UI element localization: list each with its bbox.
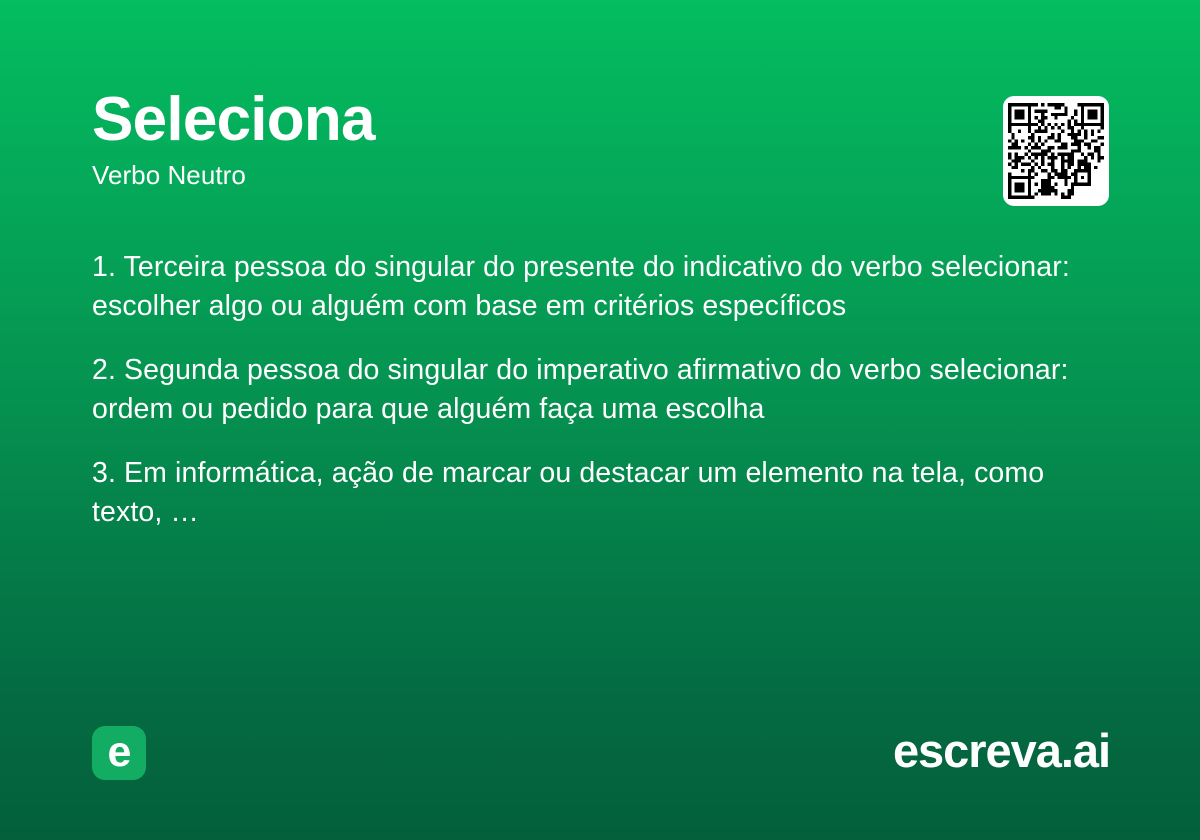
brand-logo-mark: e: [92, 726, 146, 780]
definition-card: Seleciona Verbo Neutro 1. Terceira pesso…: [0, 0, 1200, 840]
brand-wordmark: escreva.ai: [893, 722, 1110, 780]
qr-code-icon: [1008, 102, 1104, 200]
definition-item: 3. Em informática, ação de marcar ou des…: [92, 454, 1107, 532]
qr-code-card[interactable]: [1003, 96, 1109, 206]
definition-item: 1. Terceira pessoa do singular do presen…: [92, 248, 1107, 326]
page-title: Seleciona: [92, 88, 1110, 152]
brand-logo-letter: e: [92, 726, 146, 780]
definition-item: 2. Segunda pessoa do singular do imperat…: [92, 351, 1107, 429]
word-class-subtitle: Verbo Neutro: [92, 160, 1110, 191]
card-header: Seleciona Verbo Neutro: [92, 88, 1110, 192]
definition-list: 1. Terceira pessoa do singular do presen…: [92, 248, 1107, 532]
